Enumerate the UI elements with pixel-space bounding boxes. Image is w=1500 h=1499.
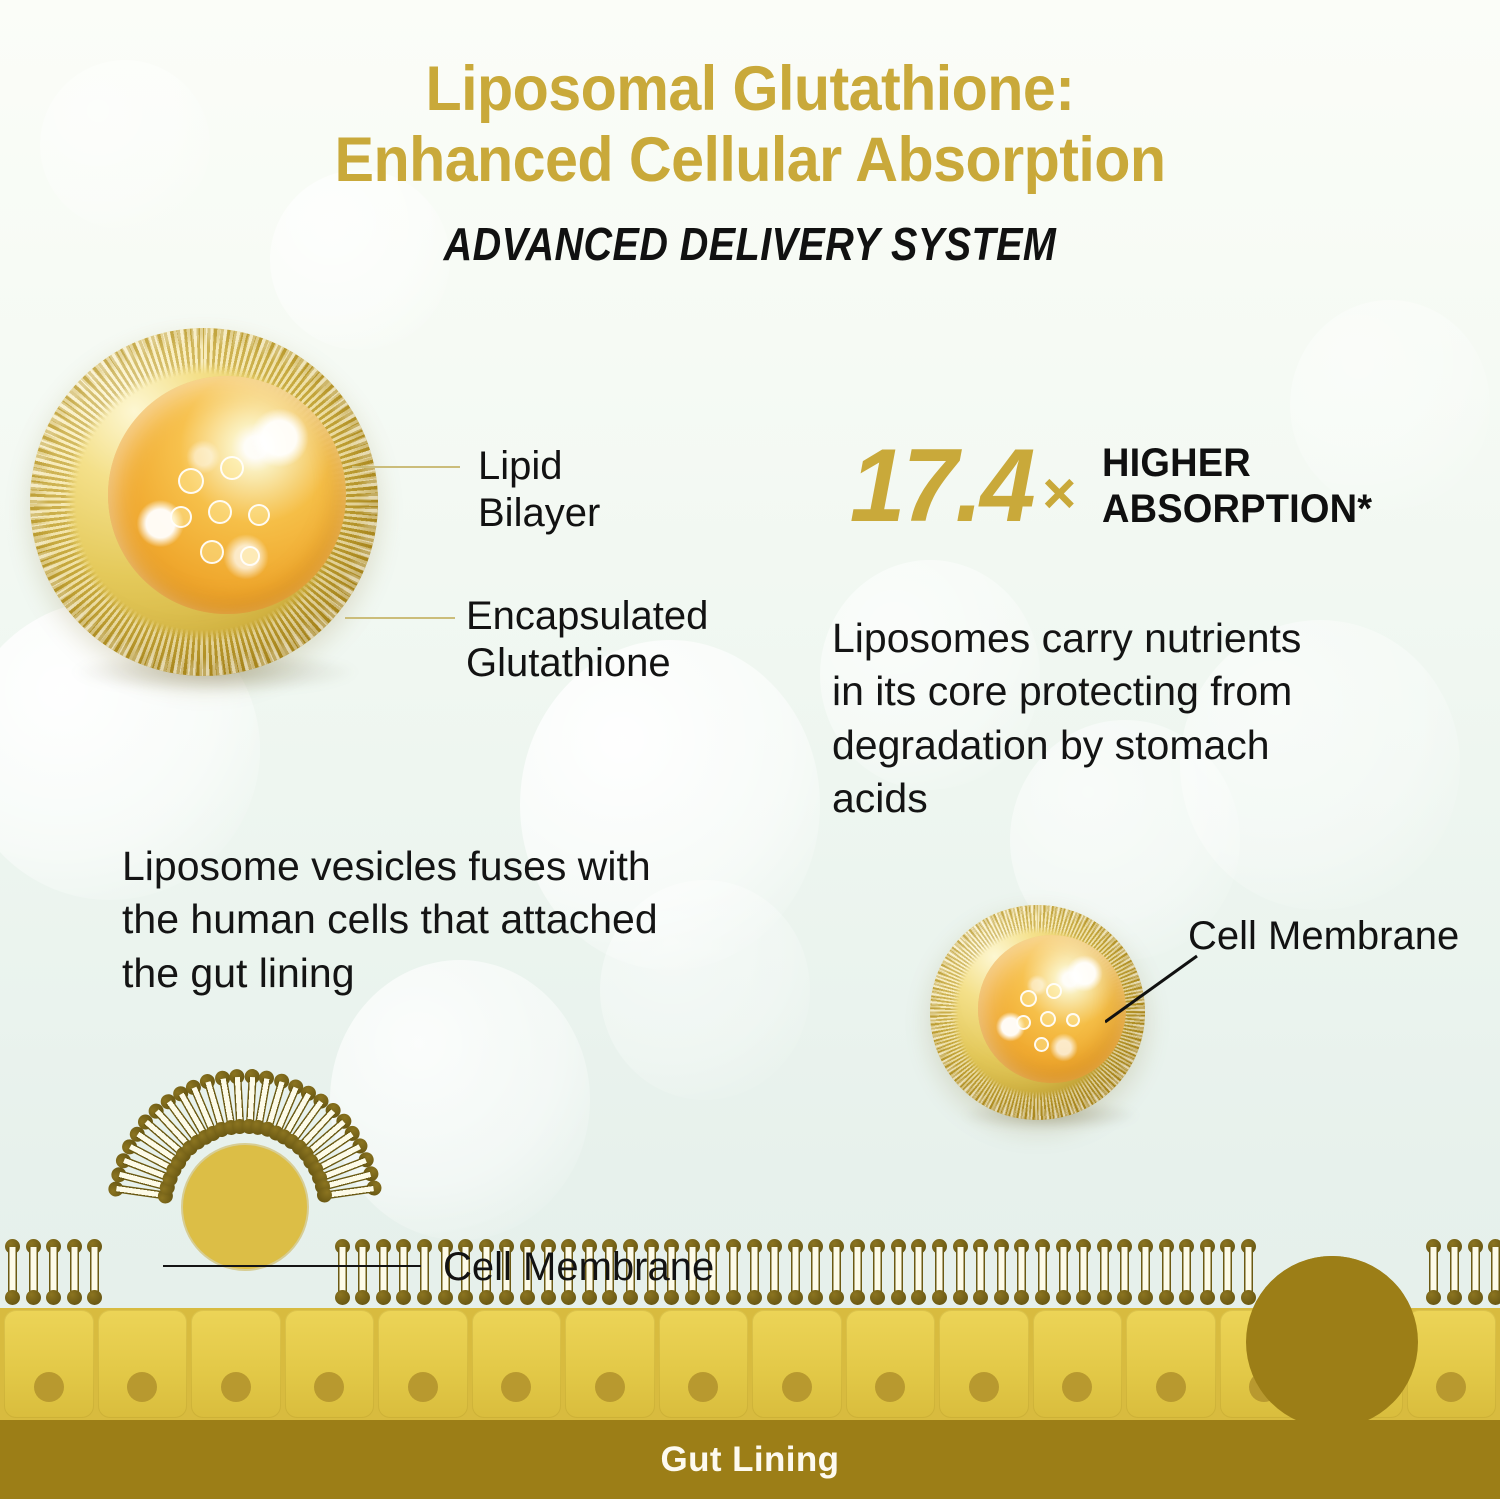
gut-lining-label: Gut Lining	[661, 1440, 840, 1480]
leader-line-lipid-bilayer	[352, 466, 460, 468]
lipid-head	[602, 1290, 617, 1305]
lipid-head	[1200, 1290, 1215, 1305]
core-highlights	[108, 376, 346, 614]
callout-encapsulated-glutathione: Encapsulated Glutathione	[466, 593, 708, 687]
phospholipid	[25, 1239, 42, 1305]
lipid-head	[67, 1290, 82, 1305]
lipid-head	[46, 1290, 61, 1305]
phospholipid	[828, 1239, 845, 1305]
lipid-head	[1035, 1290, 1050, 1305]
lipid-head	[1179, 1290, 1194, 1305]
callout-lipid-bilayer: Lipid Bilayer	[478, 443, 600, 537]
phospholipid	[1096, 1239, 1113, 1305]
glutathione-molecule	[220, 456, 244, 480]
lipid-head	[1076, 1290, 1091, 1305]
stat-label: HIGHER ABSORPTION*	[1102, 440, 1372, 533]
callout-cell-membrane-left: Cell Membrane	[443, 1244, 714, 1291]
epithelial-cell	[939, 1310, 1029, 1418]
phospholipid	[910, 1239, 927, 1305]
stat-multiplier: ×	[1042, 465, 1076, 523]
epithelial-cell	[378, 1310, 468, 1418]
lipid-head	[1056, 1290, 1071, 1305]
lipid-head	[726, 1290, 741, 1305]
epithelial-cell	[752, 1310, 842, 1418]
lipid-head	[1097, 1290, 1112, 1305]
lipid-head	[808, 1290, 823, 1305]
stat-number: 17.4	[850, 437, 1033, 536]
lipid-head	[417, 1290, 432, 1305]
glutathione-molecule	[1034, 1037, 1049, 1052]
cell-nucleus	[1062, 1372, 1092, 1402]
cell-nucleus	[127, 1372, 157, 1402]
lipid-head	[932, 1290, 947, 1305]
paragraph-right: Liposomes carry nutrients in its core pr…	[832, 612, 1432, 825]
epithelial-cell	[659, 1310, 749, 1418]
lipid-head	[541, 1290, 556, 1305]
lipid-head	[5, 1290, 20, 1305]
phospholipid	[890, 1239, 907, 1305]
fused-liposome-circle-overlay	[1246, 1256, 1418, 1428]
lipid-head	[1488, 1290, 1500, 1305]
glutathione-molecule	[1040, 1011, 1056, 1027]
lipid-head	[705, 1290, 720, 1305]
phospholipid	[952, 1239, 969, 1305]
lipid-head	[973, 1290, 988, 1305]
phospholipid	[725, 1239, 742, 1305]
cell-nucleus	[595, 1372, 625, 1402]
cell-nucleus	[875, 1372, 905, 1402]
lipid-head	[829, 1290, 844, 1305]
cell-nucleus	[501, 1372, 531, 1402]
phospholipid	[1075, 1239, 1092, 1305]
phospholipid	[1055, 1239, 1072, 1305]
paragraph-left: Liposome vesicles fuses with the human c…	[122, 840, 762, 1000]
phospholipid	[1199, 1239, 1216, 1305]
lipid-head	[1159, 1290, 1174, 1305]
epithelial-cell	[98, 1310, 188, 1418]
cell-nucleus	[782, 1372, 812, 1402]
lipid-head	[438, 1290, 453, 1305]
lipid-head	[747, 1290, 762, 1305]
cell-nucleus	[34, 1372, 64, 1402]
phospholipid	[4, 1239, 21, 1305]
epithelial-cell	[191, 1310, 281, 1418]
phospholipid	[807, 1239, 824, 1305]
gut-membrane-zone: Cell Membrane Gut Lining	[0, 1229, 1500, 1499]
phospholipid	[1240, 1239, 1257, 1305]
phospholipid	[1219, 1239, 1236, 1305]
encapsulated-core	[108, 376, 346, 614]
glutathione-molecule	[170, 506, 192, 528]
lipid-head	[1117, 1290, 1132, 1305]
phospholipid	[1137, 1239, 1154, 1305]
page-title-line-2: Enhanced Cellular Absorption	[45, 125, 1455, 196]
lipid-head	[1220, 1290, 1235, 1305]
lipid-head	[87, 1290, 102, 1305]
phospholipid	[1178, 1239, 1195, 1305]
glutathione-molecule	[1016, 1015, 1031, 1030]
lipid-head	[1468, 1290, 1483, 1305]
phospholipid	[45, 1239, 62, 1305]
cell-nucleus	[688, 1372, 718, 1402]
phospholipid	[972, 1239, 989, 1305]
gut-lining-band: Gut Lining	[0, 1420, 1500, 1499]
cell-nucleus	[969, 1372, 999, 1402]
cell-nucleus	[1436, 1372, 1466, 1402]
liposome-cutaway-large	[30, 328, 378, 676]
glutathione-molecule	[200, 540, 224, 564]
lipid-head	[953, 1290, 968, 1305]
glutathione-molecule	[1020, 990, 1037, 1007]
epithelial-cell	[565, 1310, 655, 1418]
cell-nucleus	[314, 1372, 344, 1402]
lipid-head	[685, 1290, 700, 1305]
phospholipid	[787, 1239, 804, 1305]
phospholipid	[86, 1239, 103, 1305]
phospholipid	[849, 1239, 866, 1305]
lipid-head	[870, 1290, 885, 1305]
header-block: Liposomal Glutathione: Enhanced Cellular…	[0, 54, 1500, 271]
cell-nucleus	[1156, 1372, 1186, 1402]
lipid-head	[520, 1290, 535, 1305]
phospholipid	[931, 1239, 948, 1305]
lipid-head	[561, 1290, 576, 1305]
callout-cell-membrane-right: Cell Membrane	[1188, 913, 1459, 960]
leader-line-cell-membrane-right	[1105, 950, 1225, 1030]
glutathione-molecule	[240, 546, 260, 566]
lipid-head	[664, 1290, 679, 1305]
phospholipid	[746, 1239, 763, 1305]
lipid-head	[788, 1290, 803, 1305]
phospholipid	[869, 1239, 886, 1305]
lipid-head	[1447, 1290, 1462, 1305]
epithelial-cell	[1033, 1310, 1123, 1418]
vesicle-core	[183, 1145, 307, 1269]
lipid-head	[396, 1290, 411, 1305]
page-title-line-1: Liposomal Glutathione:	[45, 54, 1455, 125]
fusing-liposome-arch	[105, 1093, 375, 1323]
glutathione-molecule	[1066, 1013, 1080, 1027]
lipid-head	[26, 1290, 41, 1305]
cell-nucleus	[408, 1372, 438, 1402]
lipid-head	[1426, 1290, 1441, 1305]
phospholipid	[1158, 1239, 1175, 1305]
phospholipid	[1425, 1239, 1442, 1305]
lipid-head	[499, 1290, 514, 1305]
lipid-head	[994, 1290, 1009, 1305]
epithelial-cell	[846, 1310, 936, 1418]
encapsulated-core	[978, 935, 1126, 1083]
phospholipid	[1034, 1239, 1051, 1305]
lipid-head	[891, 1290, 906, 1305]
lipid-head	[479, 1290, 494, 1305]
infographic-canvas: Liposomal Glutathione: Enhanced Cellular…	[0, 0, 1500, 1499]
glutathione-molecule	[1046, 983, 1062, 999]
phospholipid	[1487, 1239, 1500, 1305]
phospholipid	[1013, 1239, 1030, 1305]
lipid-head	[767, 1290, 782, 1305]
stat-block: 17.4 × HIGHER ABSORPTION*	[846, 437, 1387, 536]
lipid-head	[1138, 1290, 1153, 1305]
lipid-head	[911, 1290, 926, 1305]
epithelial-cell	[285, 1310, 375, 1418]
phospholipid	[993, 1239, 1010, 1305]
phospholipid	[375, 1239, 392, 1305]
lipid-head	[623, 1290, 638, 1305]
epithelial-cell	[1126, 1310, 1216, 1418]
phospholipid	[1116, 1239, 1133, 1305]
epithelial-cell	[472, 1310, 562, 1418]
phospholipid	[66, 1239, 83, 1305]
glutathione-molecule	[248, 504, 270, 526]
lipid-head	[376, 1290, 391, 1305]
core-highlights	[978, 935, 1126, 1083]
leader-line-cell-membrane-left	[163, 1265, 421, 1267]
epithelial-cell	[1407, 1310, 1497, 1418]
phospholipid	[395, 1239, 412, 1305]
phospholipid	[319, 1186, 337, 1204]
epithelial-cell	[4, 1310, 94, 1418]
glutathione-molecule	[208, 500, 232, 524]
page-subtitle: ADVANCED DELIVERY SYSTEM	[105, 217, 1395, 271]
phospholipid	[1446, 1239, 1463, 1305]
cell-nucleus	[221, 1372, 251, 1402]
lipid-head	[644, 1290, 659, 1305]
phospholipid	[1467, 1239, 1484, 1305]
lipid-head	[850, 1290, 865, 1305]
lipid-head	[458, 1290, 473, 1305]
glutathione-molecule	[178, 468, 204, 494]
lipid-head	[1241, 1290, 1256, 1305]
lipid-head	[1014, 1290, 1029, 1305]
phospholipid	[766, 1239, 783, 1305]
lipid-tail	[328, 1184, 375, 1198]
lipid-head	[582, 1290, 597, 1305]
phospholipid	[416, 1239, 433, 1305]
leader-line-encapsulated-glutathione	[345, 617, 455, 619]
